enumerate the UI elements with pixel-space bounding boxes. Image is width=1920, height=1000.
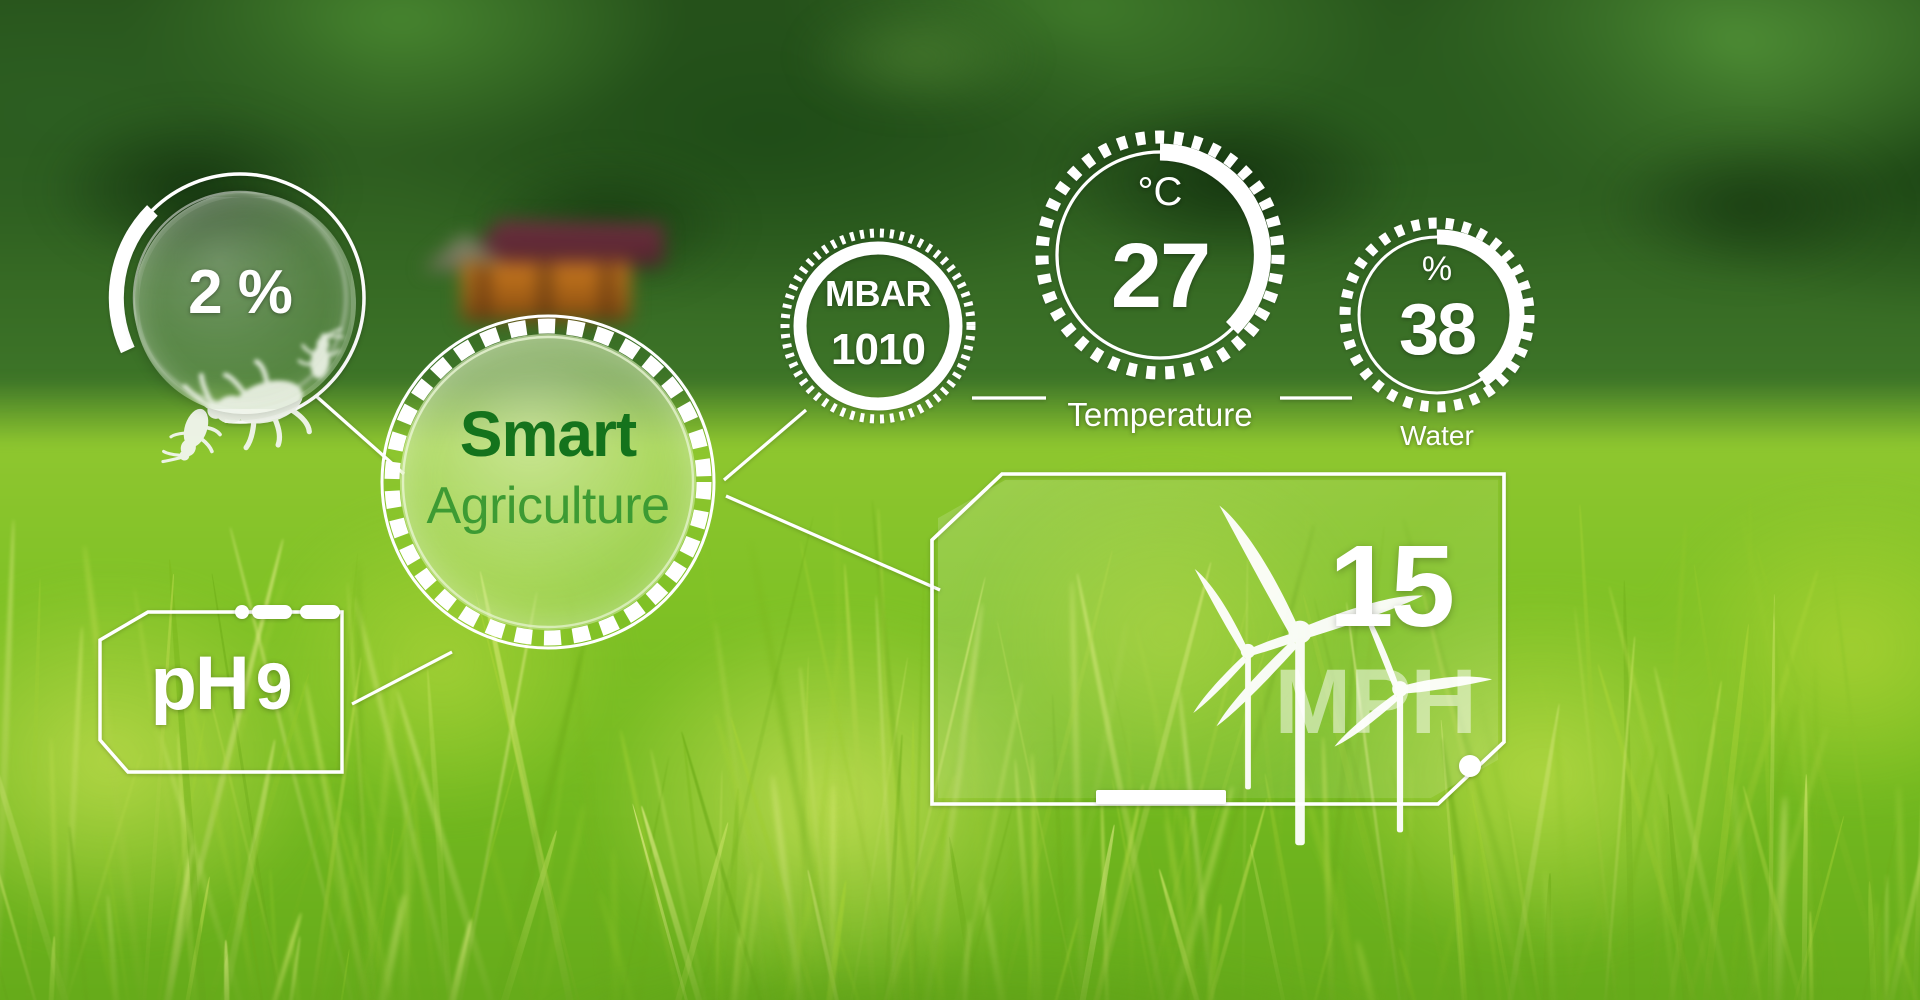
water-caption: Water bbox=[1338, 422, 1536, 450]
wind-speed-unit: MPH bbox=[1275, 656, 1476, 748]
ph-panel[interactable]: pH9 bbox=[100, 612, 342, 772]
hud-overlay: 2 % Smart Agriculture MBAR 1010 °C 27 Te… bbox=[0, 0, 1920, 1000]
brand-line-2: Agriculture bbox=[374, 480, 722, 532]
pressure-value: 1010 bbox=[780, 328, 976, 372]
temperature-gauge[interactable]: °C 27 Temperature bbox=[1025, 120, 1295, 390]
brand-line-1: Smart bbox=[374, 402, 722, 466]
ph-readout: pH9 bbox=[100, 646, 342, 722]
connector-center-to-ph bbox=[352, 652, 452, 704]
pest-value: 2 % bbox=[112, 262, 368, 324]
connector-center-to-wind bbox=[726, 496, 940, 590]
temperature-value: 27 bbox=[1025, 230, 1295, 322]
temperature-unit-label: °C bbox=[1025, 172, 1295, 212]
dashboard-scene: 2 % Smart Agriculture MBAR 1010 °C 27 Te… bbox=[0, 0, 1920, 1000]
wind-panel[interactable]: 15 MPH bbox=[932, 474, 1504, 804]
water-unit-label: % bbox=[1338, 252, 1536, 286]
pest-gauge[interactable]: 2 % bbox=[112, 170, 368, 426]
pressure-unit-label: MBAR bbox=[780, 276, 976, 312]
water-value: 38 bbox=[1338, 294, 1536, 366]
wind-speed-value: 15 bbox=[1329, 528, 1452, 644]
brand-logo[interactable]: Smart Agriculture bbox=[374, 308, 722, 656]
temperature-caption: Temperature bbox=[1025, 398, 1295, 431]
ph-label: pH bbox=[150, 641, 247, 726]
ph-value: 9 bbox=[256, 649, 292, 723]
pressure-gauge[interactable]: MBAR 1010 bbox=[780, 228, 976, 424]
water-gauge[interactable]: % 38 Water bbox=[1338, 216, 1536, 414]
